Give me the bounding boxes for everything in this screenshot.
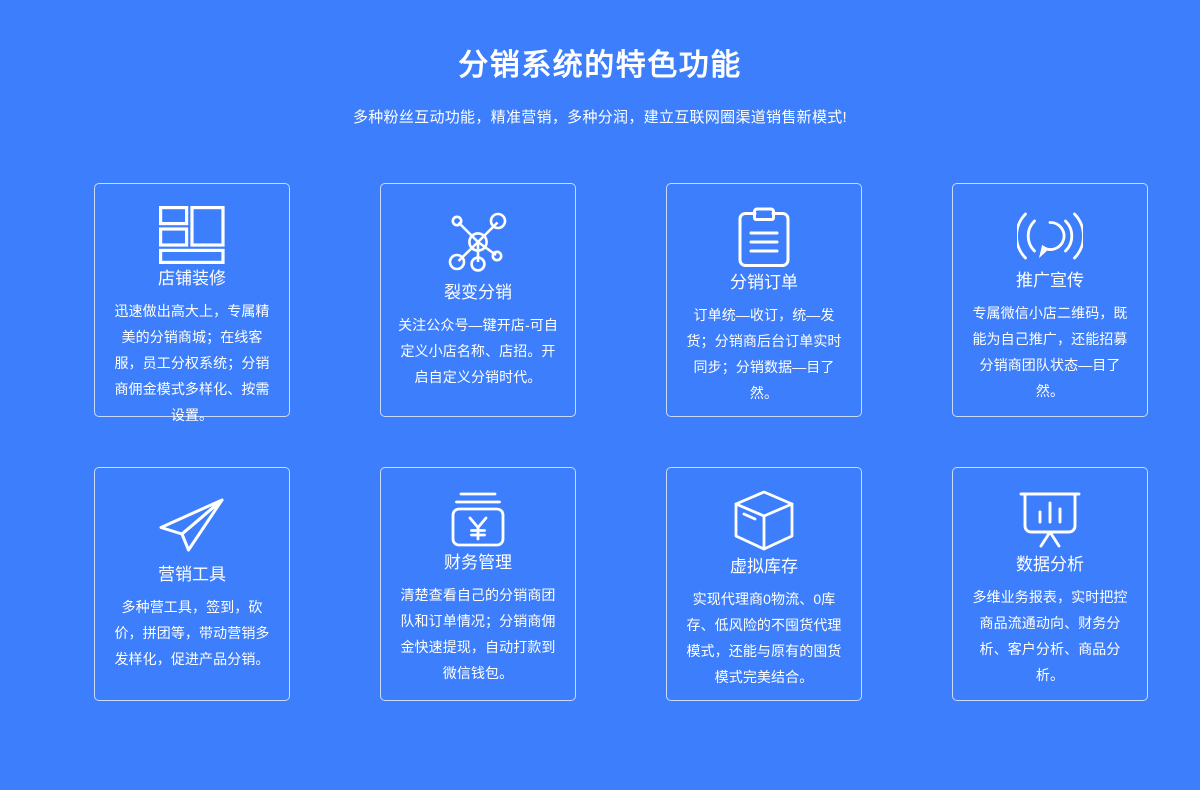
card-description: 订单统—收订，统—发货；分销商后台订单实时同步；分销数据—目了然。 [683,302,845,406]
page-subtitle: 多种粉丝互动功能，精准营销，多种分润，建立互联网圈渠道销售新模式! [0,106,1200,130]
card-description: 实现代理商0物流、0库存、低风险的不囤货代理模式，还能与原有的囤货模式完美结合。 [683,586,845,690]
card-title: 推广宣传 [1016,270,1084,292]
feature-card-distribution-orders[interactable]: 分销订单 订单统—收订，统—发货；分销商后台订单实时同步；分销数据—目了然。 [666,183,862,417]
card-description: 迅速做出高大上，专属精美的分销商城；在线客服，员工分权系统；分销商佣金模式多样化… [111,298,273,428]
feature-showcase-page: 分销系统的特色功能 多种粉丝互动功能，精准营销，多种分润，建立互联网圈渠道销售新… [0,0,1200,790]
page-header: 分销系统的特色功能 多种粉丝互动功能，精准营销，多种分润，建立互联网圈渠道销售新… [0,0,1200,130]
card-description: 专属微信小店二维码，既能为自己推广，还能招募分销商团队状态—目了然。 [969,300,1131,404]
feature-card-marketing-tools[interactable]: 营销工具 多种营工具，签到，砍价，拼团等，带动营销多发样化，促进产品分销。 [94,467,290,701]
cube-box-icon [733,490,795,552]
feature-card-data-analysis[interactable]: 数据分析 多维业务报表，实时把控商品流通动向、财务分析、客户分析、商品分析。 [952,467,1148,701]
clipboard-icon [737,206,791,268]
card-description: 多维业务报表，实时把控商品流通动向、财务分析、客户分析、商品分析。 [969,584,1131,688]
feature-card-grid: 店铺装修 迅速做出高大上，专属精美的分销商城；在线客服，员工分权系统；分销商佣金… [94,130,1106,701]
paper-plane-icon [157,490,227,560]
card-title: 数据分析 [1016,554,1084,576]
network-nodes-icon [446,206,510,278]
feature-card-virtual-inventory[interactable]: 虚拟库存 实现代理商0物流、0库存、低风险的不囤货代理模式，还能与原有的囤货模式… [666,467,862,701]
card-title: 营销工具 [158,564,226,586]
card-title: 分销订单 [730,272,798,294]
card-title: 虚拟库存 [730,556,798,578]
feature-card-promotion[interactable]: 推广宣传 专属微信小店二维码，既能为自己推广，还能招募分销商团队状态—目了然。 [952,183,1148,417]
page-title: 分销系统的特色功能 [0,44,1200,88]
card-title: 财务管理 [444,552,512,574]
card-title: 店铺装修 [158,268,226,290]
wallet-yuan-icon [450,490,506,548]
card-description: 多种营工具，签到，砍价，拼团等，带动营销多发样化，促进产品分销。 [111,594,273,672]
presentation-chart-icon [1018,490,1082,550]
broadcast-icon [1017,206,1083,266]
feature-card-shop-decoration[interactable]: 店铺装修 迅速做出高大上，专属精美的分销商城；在线客服，员工分权系统；分销商佣金… [94,183,290,417]
card-description: 清楚查看自己的分销商团队和订单情况；分销商佣金快速提现，自动打款到微信钱包。 [397,582,559,686]
card-title: 裂变分销 [444,282,512,304]
feature-card-finance-management[interactable]: 财务管理 清楚查看自己的分销商团队和订单情况；分销商佣金快速提现，自动打款到微信… [380,467,576,701]
feature-card-fission-distribution[interactable]: 裂变分销 关注公众号—键开店-可自定义小店名称、店招。开启自定义分销时代。 [380,183,576,417]
card-description: 关注公众号—键开店-可自定义小店名称、店招。开启自定义分销时代。 [397,312,559,390]
layout-grid-icon [159,206,225,264]
